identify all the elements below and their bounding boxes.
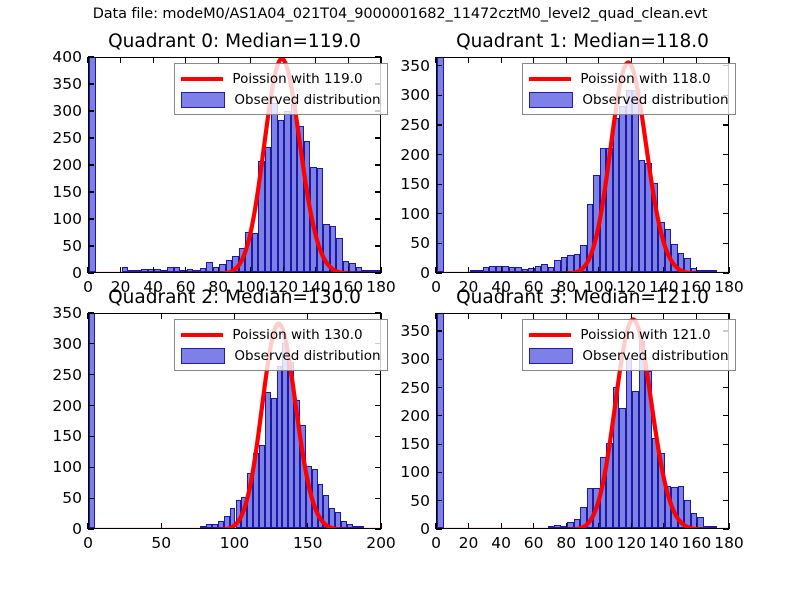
legend-label-observed: Observed distribution xyxy=(582,348,728,364)
legend-row-observed: Observed distribution xyxy=(529,89,728,110)
legend-label-poisson: Poission with 119.0 xyxy=(232,71,362,87)
y-tick-label: 250 xyxy=(376,379,430,397)
y-tick-label: 200 xyxy=(376,407,430,425)
y-tick-label: 150 xyxy=(376,435,430,453)
x-tick-label: 120 xyxy=(617,534,647,552)
x-tick-label: 80 xyxy=(556,534,576,552)
legend-line-swatch-icon xyxy=(529,327,571,342)
legend-label-observed: Observed distribution xyxy=(234,92,380,108)
legend-row-poisson: Poission with 130.0 xyxy=(181,324,380,345)
x-tick-label: 60 xyxy=(524,534,544,552)
x-tick-label: 140 xyxy=(649,534,679,552)
legend-patch-swatch-icon xyxy=(529,92,573,108)
x-tick-mark xyxy=(728,523,729,529)
legend: Poission with 119.0Observed distribution xyxy=(174,63,387,115)
legend-row-observed: Observed distribution xyxy=(529,345,728,366)
legend-row-observed: Observed distribution xyxy=(181,89,380,110)
legend-row-poisson: Poission with 118.0 xyxy=(529,68,728,89)
figure-canvas: Data file: modeM0/AS1A04_021T04_90000016… xyxy=(0,0,800,600)
y-tick-label: 50 xyxy=(376,492,430,510)
x-tick-label: 100 xyxy=(584,534,614,552)
legend-label-observed: Observed distribution xyxy=(234,348,380,364)
legend-label-poisson: Poission with 130.0 xyxy=(232,327,362,343)
legend-row-observed: Observed distribution xyxy=(181,345,380,366)
legend-row-poisson: Poission with 119.0 xyxy=(181,68,380,89)
legend-label-poisson: Poission with 118.0 xyxy=(580,71,710,87)
legend-patch-swatch-icon xyxy=(529,348,573,364)
legend-patch-swatch-icon xyxy=(181,348,225,364)
legend-row-poisson: Poission with 121.0 xyxy=(529,324,728,345)
y-tick-label: 0 xyxy=(376,520,430,538)
y-tick-label: 100 xyxy=(376,463,430,481)
x-tick-label: 20 xyxy=(459,534,479,552)
y-tick-mark xyxy=(436,528,442,529)
x-tick-label: 180 xyxy=(714,534,744,552)
legend-label-observed: Observed distribution xyxy=(582,92,728,108)
legend: Poission with 130.0Observed distribution xyxy=(174,319,387,371)
legend-line-swatch-icon xyxy=(181,71,223,86)
legend-patch-swatch-icon xyxy=(181,92,225,108)
legend-line-swatch-icon xyxy=(529,71,571,86)
legend: Poission with 118.0Observed distribution xyxy=(522,63,735,115)
legend-line-swatch-icon xyxy=(181,327,223,342)
legend-label-poisson: Poission with 121.0 xyxy=(580,327,710,343)
legend: Poission with 121.0Observed distribution xyxy=(522,319,735,371)
x-tick-label: 160 xyxy=(682,534,712,552)
x-tick-label: 0 xyxy=(431,534,441,552)
x-tick-label: 40 xyxy=(491,534,511,552)
subplot-title: Quadrant 3: Median=121.0 xyxy=(436,287,729,308)
